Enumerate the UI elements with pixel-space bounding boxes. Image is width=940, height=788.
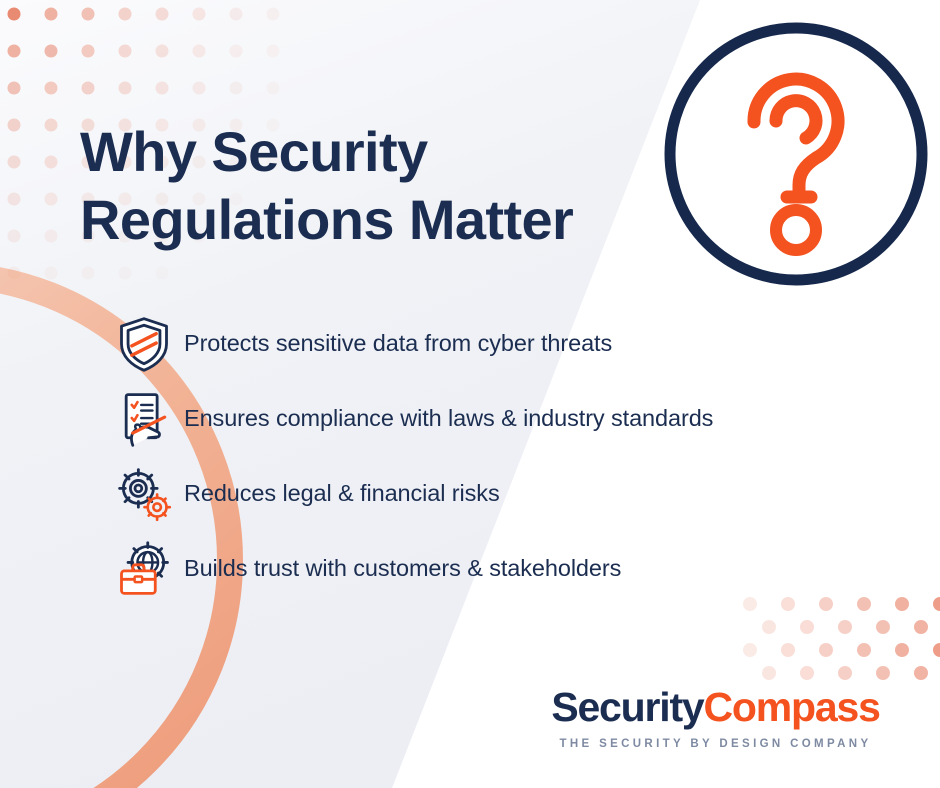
logo-wordmark: SecurityCompass bbox=[543, 686, 888, 729]
briefcase-globe-icon bbox=[104, 534, 184, 604]
logo-tagline: THE SECURITY BY DESIGN COMPANY bbox=[543, 738, 888, 750]
page-title: Why Security Regulations Matter bbox=[80, 118, 680, 255]
question-mark-icon bbox=[660, 18, 932, 290]
page-title-line-2: Regulations Matter bbox=[80, 186, 680, 254]
shield-icon bbox=[104, 309, 184, 379]
list-item: Protects sensitive data from cyber threa… bbox=[104, 306, 844, 381]
benefits-list: Protects sensitive data from cyber threa… bbox=[104, 306, 844, 606]
logo-word-primary: Security bbox=[551, 684, 703, 730]
list-item-label: Ensures compliance with laws & industry … bbox=[184, 405, 713, 432]
gears-icon bbox=[104, 459, 184, 529]
list-item-label: Builds trust with customers & stakeholde… bbox=[184, 555, 621, 582]
signing-hand-icon bbox=[104, 384, 184, 454]
list-item-label: Reduces legal & financial risks bbox=[184, 480, 500, 507]
list-item-label: Protects sensitive data from cyber threa… bbox=[184, 330, 612, 357]
list-item: Ensures compliance with laws & industry … bbox=[104, 381, 844, 456]
logo-word-accent: Compass bbox=[704, 684, 880, 730]
brand-logo: SecurityCompass THE SECURITY BY DESIGN C… bbox=[543, 686, 888, 750]
list-item: Reduces legal & financial risks bbox=[104, 456, 844, 531]
list-item: Builds trust with customers & stakeholde… bbox=[104, 531, 844, 606]
infographic-canvas: Why Security Regulations Matter bbox=[0, 0, 940, 788]
page-title-line-1: Why Security bbox=[80, 118, 680, 186]
question-mark-badge bbox=[660, 18, 932, 290]
